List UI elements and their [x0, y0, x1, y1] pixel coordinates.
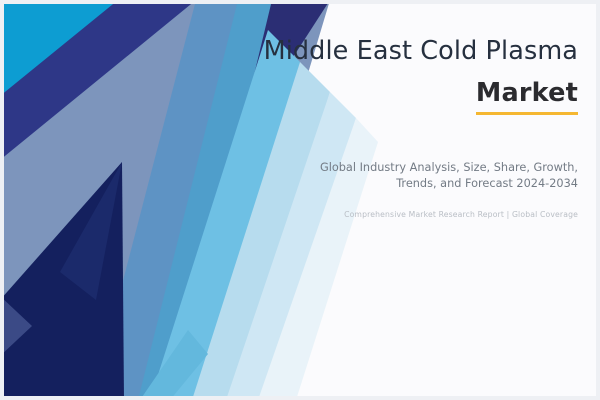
report-cover: Middle East Cold Plasma Market Global In…: [0, 0, 600, 400]
market-heading: Market: [476, 79, 578, 108]
page-title: Middle East Cold Plasma: [248, 36, 578, 66]
subtitle-line-1: Global Industry Analysis, Size, Share, G…: [248, 160, 578, 176]
cover-text-block: Middle East Cold Plasma Market Global In…: [248, 36, 578, 219]
subtitle: Global Industry Analysis, Size, Share, G…: [248, 160, 578, 193]
accent-underline: [476, 112, 578, 115]
subtitle-line-2: Trends, and Forecast 2024-2034: [248, 176, 578, 192]
market-heading-wrap: Market: [248, 79, 578, 115]
tagline: Comprehensive Market Research Report | G…: [248, 210, 578, 219]
